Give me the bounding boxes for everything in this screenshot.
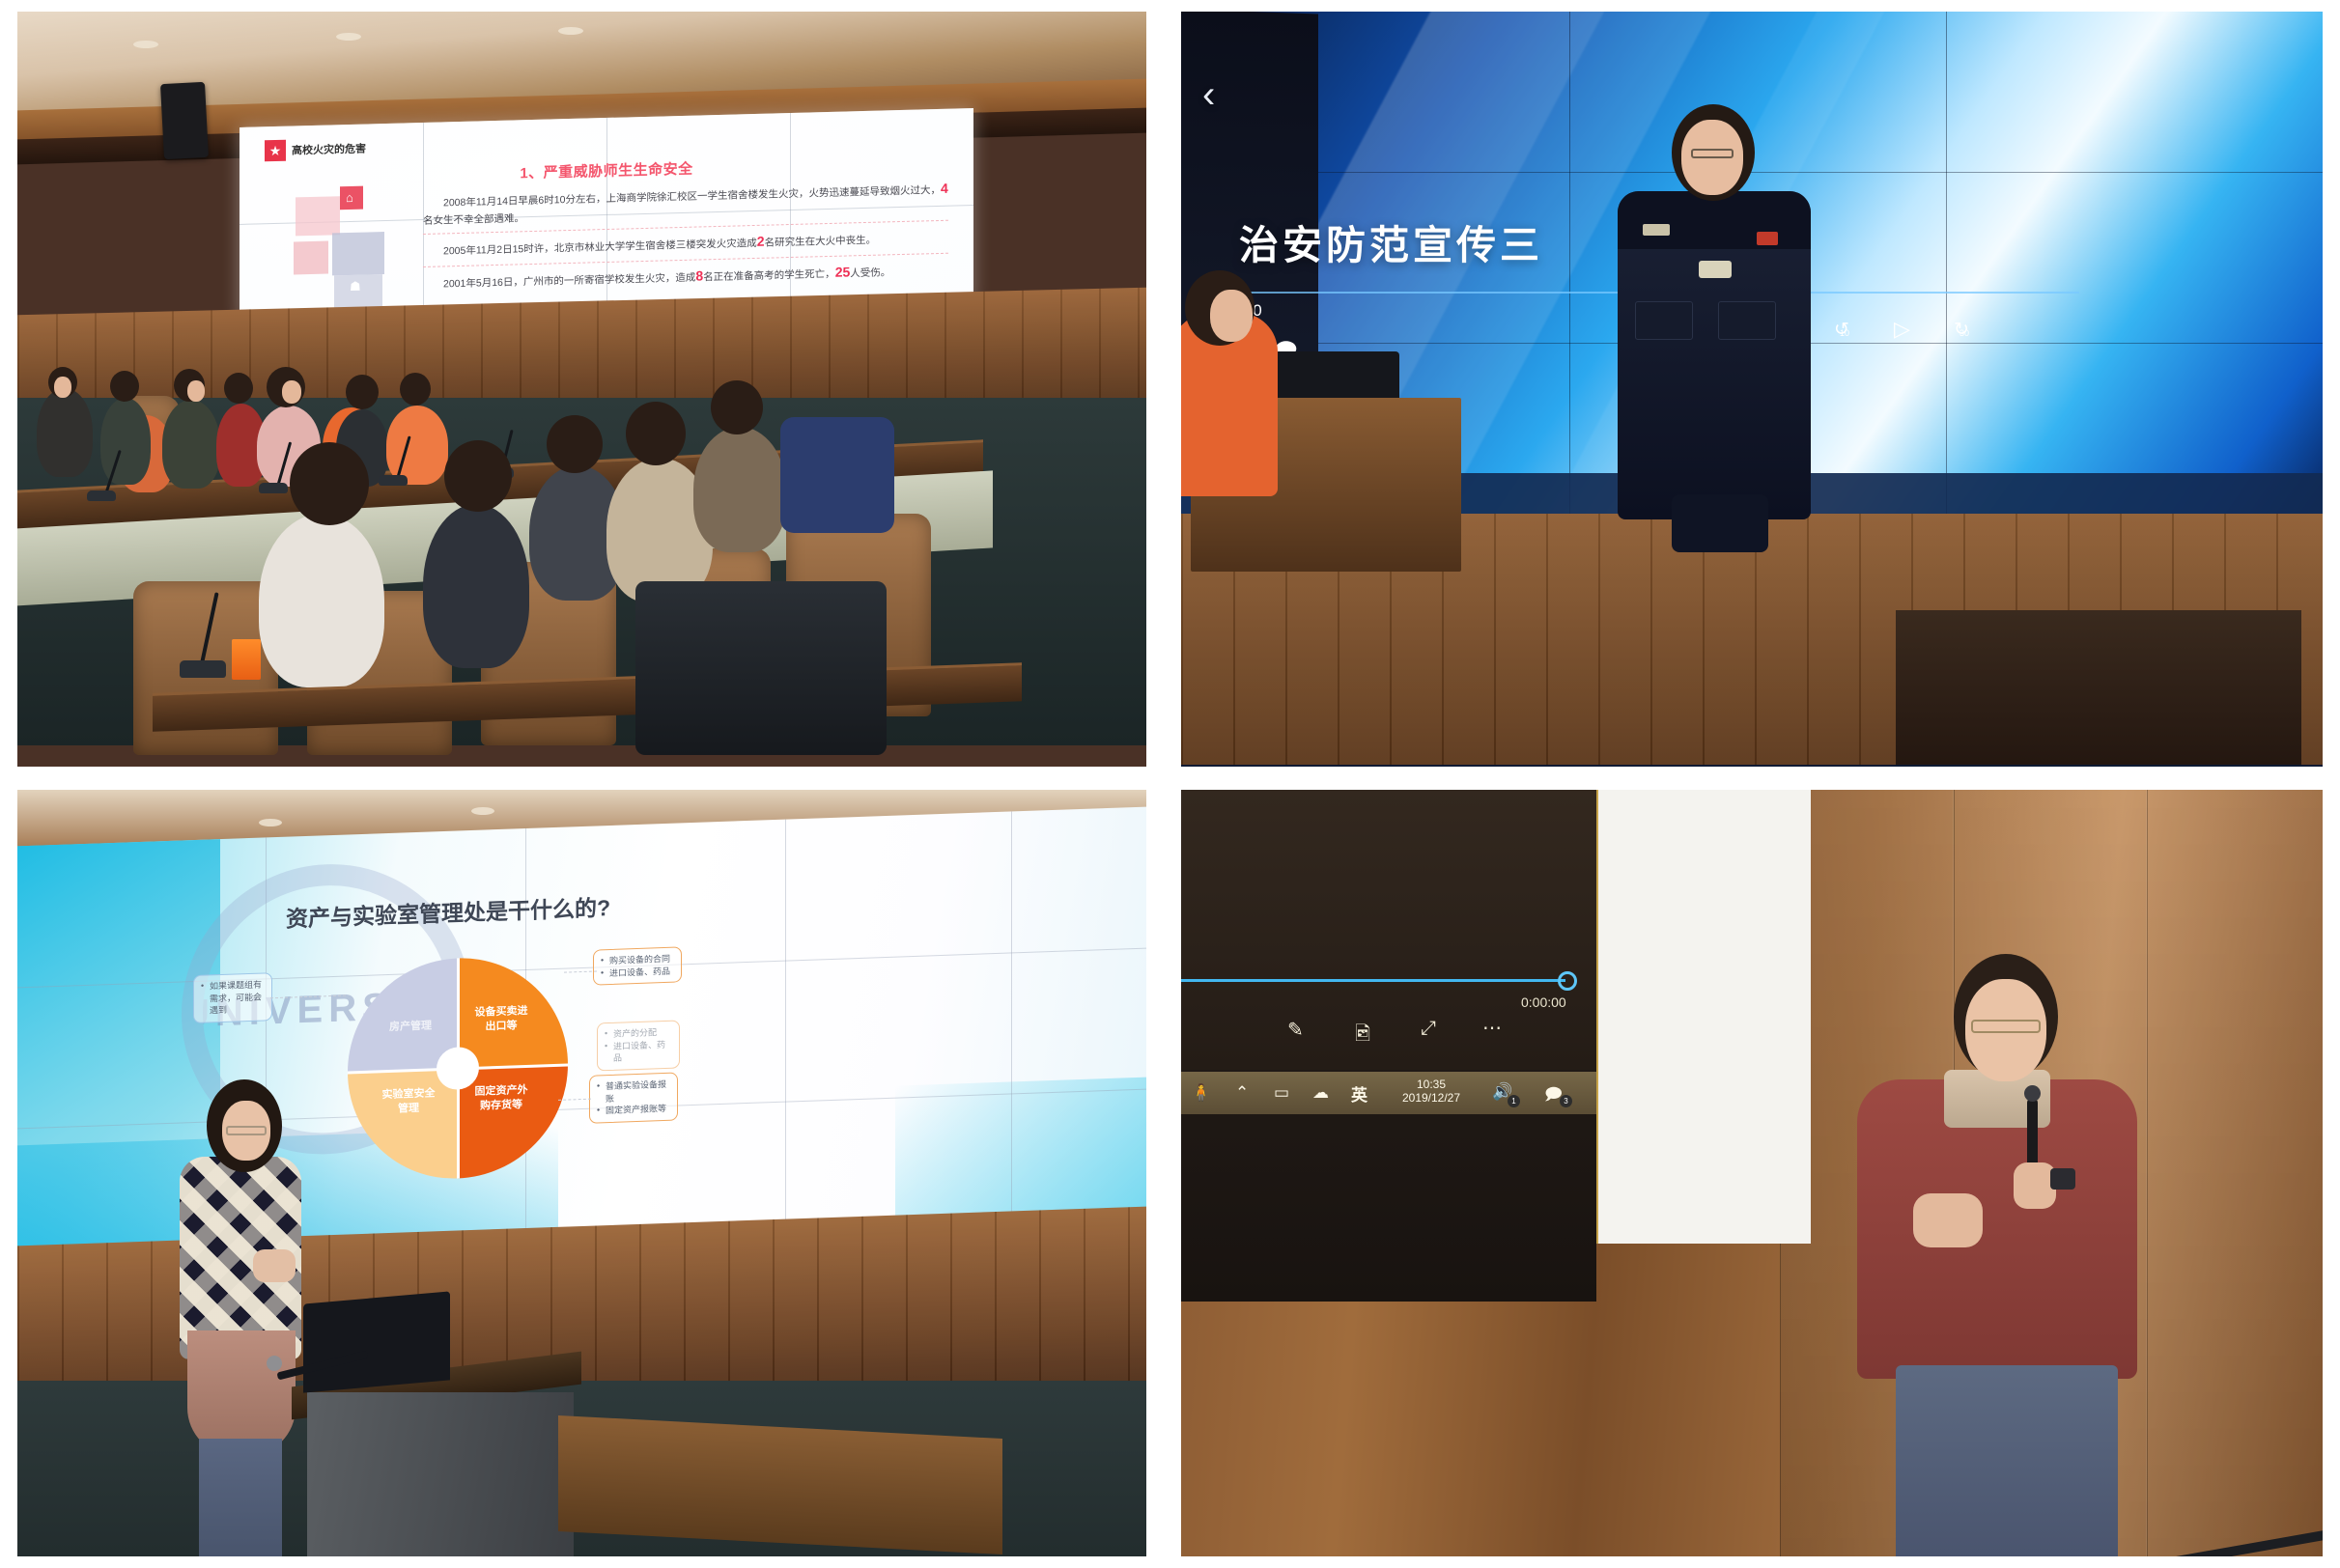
person-head: [547, 415, 603, 473]
screen-seam: [1569, 12, 1570, 514]
microphone-base: [259, 483, 288, 493]
person-face: [1210, 290, 1253, 342]
callout-item: 普通实验设备报账: [597, 1078, 670, 1106]
audience-person: [162, 400, 220, 489]
donut-center-hole: [437, 1047, 479, 1091]
taskbar-clock[interactable]: 10:35 2019/12/27: [1388, 1078, 1475, 1106]
officer-hands: [1672, 494, 1768, 552]
callout-item: 进口设备、药品: [605, 1038, 672, 1065]
callout-item: 如果课题组有需求，可能会遇到: [201, 978, 265, 1017]
audience-person: [100, 398, 151, 485]
microphone-base: [180, 660, 226, 678]
donut-quadrant-label-labsafety: 实验室安全管理: [379, 1086, 438, 1117]
person-head: [346, 375, 379, 409]
person-head: [444, 440, 512, 512]
shoulder-patch: [1757, 232, 1778, 245]
chair-near: [635, 581, 887, 755]
ceiling-light: [558, 27, 583, 35]
cloud-icon[interactable]: ☁: [1312, 1083, 1329, 1103]
person-head: [711, 380, 763, 434]
donut-quadrant-label-equipment: 设备买卖进出口等: [471, 1004, 531, 1035]
screen-white-area: [1596, 790, 1811, 1244]
presenter-jeans: [199, 1439, 282, 1556]
presenter-hands: [253, 1249, 296, 1282]
show-hidden-chevron-icon[interactable]: ⌃: [1235, 1083, 1249, 1103]
star-icon: ★: [265, 140, 286, 162]
paragraph-text-post: 名正在准备高考的学生死亡，: [703, 267, 835, 283]
wall-panel-seam: [2147, 790, 2323, 1556]
callout-right-top: 购买设备的合同 进口设备、药品: [593, 946, 682, 985]
panel-tl-photo: ★ 高校火灾的危害 ⌂ ☗ 1、严重威胁师生生命安全 2008年11月14日早晨…: [17, 12, 1146, 767]
microphone-head: [2024, 1085, 2041, 1102]
windows-taskbar[interactable]: 🧍 ⌃ ▭ ☁ 英 10:35 2019/12/27 🔊 1 🗩 3: [1181, 1072, 1596, 1114]
microphone-base: [87, 490, 116, 501]
fullscreen-expand-icon[interactable]: ⤢: [1421, 1018, 1436, 1040]
callout-item: 固定资产报账等: [597, 1103, 670, 1117]
panel-br-photo: 0:00:00 ✎ 🖻 ⤢ ⋯ 🧍 ⌃ ▭ ☁ 英 10:35 2019/12/…: [1181, 790, 2323, 1556]
slide-decor-shape: [296, 196, 340, 236]
screen-seam: [1011, 811, 1012, 1226]
table-foreground: [1896, 610, 2301, 765]
screen-seam: [1946, 12, 1947, 514]
person-head: [400, 373, 431, 406]
led-video-wall: ★ 高校火灾的危害 ⌂ ☗ 1、严重威胁师生生命安全 2008年11月14日早晨…: [240, 108, 973, 321]
paragraph-text-post-2: 人受伤。: [850, 266, 890, 279]
presenter-shirt: [187, 1330, 296, 1456]
rewind-10-label: 10: [1840, 328, 1849, 338]
video-dark-top: [1181, 790, 1596, 1070]
callout-item: 进口设备、药品: [601, 965, 674, 979]
eyeglasses: [226, 1126, 267, 1135]
person-face: [282, 380, 301, 404]
video-timestamp: 0:00:00: [1521, 994, 1566, 1010]
panel-tr-photo: ‹ 治安防范宣传三 0:00:00 🔇 🗩 ↺ 10 ▷ ↻ 30 🛍 e: [1181, 12, 2323, 767]
play-icon[interactable]: ▷: [1894, 317, 1910, 342]
action-center-badge: 3: [1560, 1095, 1572, 1107]
slide-decor-shape: [332, 232, 384, 275]
person-head: [224, 373, 253, 404]
panel-conference-room-lecture: ★ 高校火灾的危害 ⌂ ☗ 1、严重威胁师生生命安全 2008年11月14日早晨…: [0, 0, 1164, 778]
presenter-left-hand: [1913, 1193, 1983, 1247]
paragraph-highlight: 2: [757, 234, 765, 249]
panel-male-presenter: 0:00:00 ✎ 🖻 ⤢ ⋯ 🧍 ⌃ ▭ ☁ 英 10:35 2019/12/…: [1164, 778, 2340, 1568]
backpack: [780, 417, 894, 533]
donut-quadrant-label-fixedassets: 固定资产外购存货等: [471, 1083, 531, 1114]
audience-person-near: [693, 427, 786, 552]
slide-badge: ★ 高校火灾的危害: [265, 138, 366, 162]
wristwatch: [2050, 1168, 2075, 1190]
video-scrubber-track[interactable]: [1181, 979, 1565, 982]
laptop-screen: [303, 1291, 450, 1392]
donut-quadrant-label-housing: 房产管理: [381, 1019, 440, 1035]
juice-box: [232, 639, 261, 680]
projection-screen-video: 0:00:00 ✎ 🖻 ⤢ ⋯ 🧍 ⌃ ▭ ☁ 英 10:35 2019/12/…: [1181, 790, 1596, 1302]
screen-seam: [785, 820, 786, 1235]
audience-person-near: [259, 514, 384, 687]
ceiling-light: [471, 807, 494, 815]
podium: [307, 1392, 574, 1556]
battery-icon[interactable]: ▭: [1274, 1083, 1289, 1103]
ceiling-light: [259, 819, 282, 826]
screen-seam: [1181, 172, 2323, 173]
microphone-head: [267, 1356, 282, 1371]
paragraph-highlight-2: 25: [835, 264, 851, 279]
person-head: [110, 371, 139, 402]
presenter-jeans: [1896, 1365, 2118, 1556]
side-table: [558, 1415, 1002, 1554]
photo-collage: ★ 高校火灾的危害 ⌂ ☗ 1、严重威胁师生生命安全 2008年11月14日早晨…: [0, 0, 2340, 1568]
audience-person: [37, 388, 93, 477]
uniform-pocket: [1718, 301, 1776, 340]
callout-leader-line: [564, 970, 597, 972]
paragraph-text-post: 名女生不幸全部遇难。: [423, 212, 524, 227]
slide-decor-shape: [294, 241, 328, 275]
paragraph-text-pre: 2001年5月16日，广州市的一所寄宿学校发生火灾，造成: [443, 271, 695, 290]
screen-edge-highlight: [1596, 790, 1598, 1244]
person-face: [187, 380, 205, 402]
people-icon[interactable]: 🧍: [1191, 1083, 1211, 1103]
uniform-badge: [1699, 261, 1732, 278]
ime-language-indicator[interactable]: 英: [1351, 1081, 1367, 1106]
panel-police-security-briefing: ‹ 治安防范宣传三 0:00:00 🔇 🗩 ↺ 10 ▷ ↻ 30 🛍 e: [1164, 0, 2340, 778]
panel-bl-photo: UNIVERSITY 资产与实验室管理处是干什么的? 房产管理 设备买卖进出口等…: [17, 790, 1146, 1556]
chevron-left-icon[interactable]: ‹: [1202, 73, 1215, 117]
lock-icon: ⌂: [346, 190, 353, 205]
microphone-base: [379, 475, 408, 486]
eyeglasses: [1691, 149, 1734, 158]
rank-insignia: [1643, 224, 1670, 236]
video-scrubber-handle[interactable]: [1558, 971, 1577, 991]
picture-in-picture-icon[interactable]: 🖻: [1355, 1020, 1370, 1052]
panel-asset-lab-management-lecture: UNIVERSITY 资产与实验室管理处是干什么的? 房产管理 设备买卖进出口等…: [0, 778, 1164, 1568]
paragraph-text-post: 名研究生在大火中丧生。: [765, 235, 877, 249]
person-head: [290, 442, 369, 525]
person-face: [54, 377, 71, 398]
audience-person-near: [423, 504, 529, 668]
person-head: [626, 402, 686, 465]
pencil-draw-icon[interactable]: ✎: [1287, 1018, 1304, 1042]
clock-time: 10:35: [1388, 1078, 1475, 1091]
ceiling-light: [133, 41, 158, 48]
callout-leader-line: [558, 1099, 591, 1101]
forward-30-label: 30: [1959, 328, 1969, 338]
eyeglasses: [1971, 1020, 2041, 1033]
audience-person: [386, 406, 448, 485]
ceiling-light: [336, 33, 361, 41]
clock-date: 2019/12/27: [1388, 1091, 1475, 1105]
paragraph-highlight: 4: [941, 181, 948, 196]
callout-right-low: 普通实验设备报账 固定资产报账等: [589, 1073, 678, 1124]
uniform-pocket: [1635, 301, 1693, 340]
person-icon: ☗: [350, 279, 361, 294]
ceiling-speaker: [160, 82, 209, 159]
volume-badge: 1: [1508, 1095, 1520, 1107]
action-center-icon[interactable]: 🗩: [1544, 1082, 1563, 1110]
video-title: 治安防范宣传三: [1239, 212, 1543, 270]
slide-body: 2008年11月14日早晨6时10分左右，上海商学院徐汇校区一学生宿舍楼发生火灾…: [423, 179, 948, 299]
paragraph-text-pre: 2005年11月2日15时许，北京市林业大学学生宿舍楼三楼突发火灾造成: [443, 238, 757, 258]
fire-safety-slide: ★ 高校火灾的危害 ⌂ ☗ 1、严重威胁师生生命安全 2008年11月14日早晨…: [240, 108, 973, 321]
callout-left: 如果课题组有需求，可能会遇到: [193, 972, 272, 1023]
slide-badge-label: 高校火灾的危害: [292, 141, 366, 158]
more-ellipsis-icon[interactable]: ⋯: [1482, 1016, 1504, 1040]
callout-right-mid: 资产的分配 进口设备、药品: [597, 1020, 680, 1071]
paragraph-text-pre: 2008年11月14日早晨6时10分左右，上海商学院徐汇校区一学生宿舍楼发生火灾…: [443, 184, 941, 209]
